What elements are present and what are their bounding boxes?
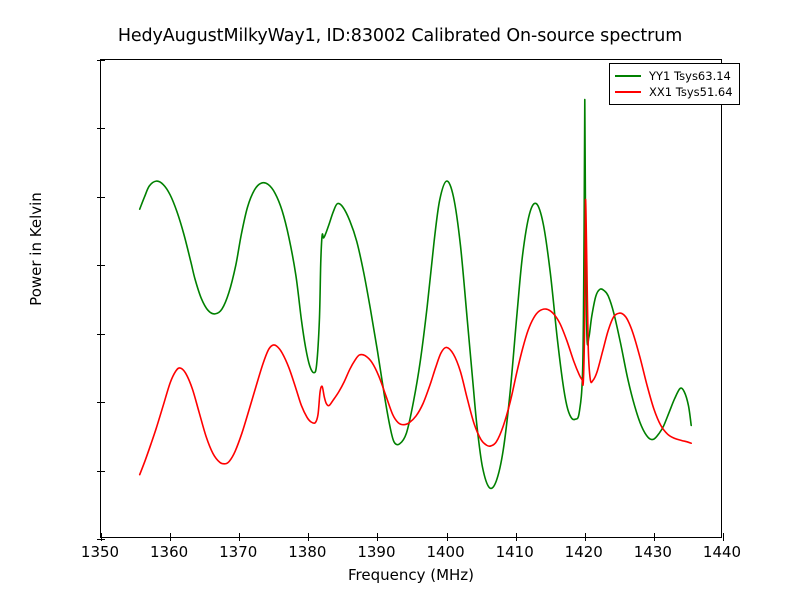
x-tick-mark [447, 537, 448, 541]
legend-entry: YY1 Tsys63.14 [615, 68, 733, 84]
x-tick-mark-inner [654, 533, 655, 537]
series-line [140, 100, 692, 489]
x-tick-label: 1390 [341, 543, 411, 561]
y-tick-mark-inner [101, 128, 105, 129]
y-axis-label: Power in Kelvin [27, 99, 45, 399]
y-tick-mark-inner [101, 265, 105, 266]
plot-area: YY1 Tsys63.14XX1 Tsys51.64 [100, 59, 722, 538]
y-tick-mark-inner [101, 60, 105, 61]
chart-legend: YY1 Tsys63.14XX1 Tsys51.64 [609, 63, 740, 105]
x-tick-label: 1350 [65, 543, 135, 561]
x-tick-label: 1380 [272, 543, 342, 561]
x-tick-mark [170, 537, 171, 541]
x-tick-mark-inner [308, 533, 309, 537]
x-tick-label: 1400 [411, 543, 481, 561]
x-tick-mark-inner [447, 533, 448, 537]
x-tick-mark [723, 537, 724, 541]
x-tick-mark [377, 537, 378, 541]
legend-color-swatch [615, 91, 641, 93]
x-tick-mark [308, 537, 309, 541]
y-tick-mark-inner [101, 197, 105, 198]
x-tick-label: 1440 [687, 543, 757, 561]
series-line [140, 199, 692, 474]
y-tick-mark-inner [101, 402, 105, 403]
x-axis-label: Frequency (MHz) [100, 566, 722, 584]
x-tick-mark-inner [170, 533, 171, 537]
x-tick-mark [101, 537, 102, 541]
legend-label: YY1 Tsys63.14 [649, 69, 731, 83]
x-tick-mark-inner [377, 533, 378, 537]
x-tick-mark-inner [723, 533, 724, 537]
x-tick-mark-inner [239, 533, 240, 537]
x-tick-label: 1420 [549, 543, 619, 561]
legend-entry: XX1 Tsys51.64 [615, 84, 733, 100]
x-tick-label: 1360 [134, 543, 204, 561]
series-canvas [101, 60, 723, 539]
figure-canvas: HedyAugustMilkyWay1, ID:83002 Calibrated… [0, 0, 800, 600]
x-tick-mark-inner [516, 533, 517, 537]
x-tick-mark-inner [101, 533, 102, 537]
x-tick-mark [585, 537, 586, 541]
x-tick-label: 1430 [618, 543, 688, 561]
y-tick-mark-inner [101, 471, 105, 472]
x-tick-label: 1410 [480, 543, 550, 561]
y-tick-mark-inner [101, 334, 105, 335]
x-tick-mark [654, 537, 655, 541]
x-tick-mark [239, 537, 240, 541]
legend-color-swatch [615, 75, 641, 77]
x-tick-mark-inner [585, 533, 586, 537]
legend-label: XX1 Tsys51.64 [649, 85, 733, 99]
x-tick-mark [516, 537, 517, 541]
x-tick-label: 1370 [203, 543, 273, 561]
chart-title: HedyAugustMilkyWay1, ID:83002 Calibrated… [0, 26, 800, 46]
